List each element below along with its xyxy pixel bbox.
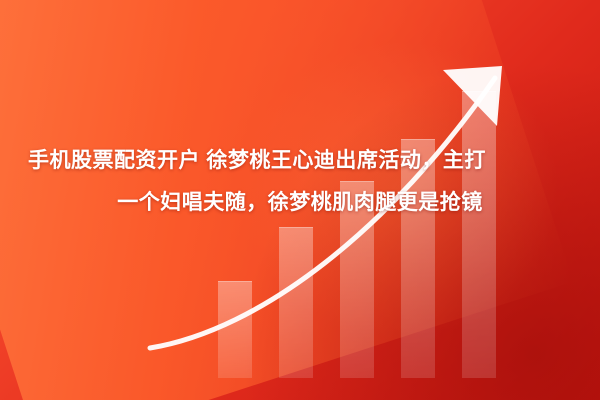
headline-block: 手机股票配资开户 徐梦桃王心迪出席活动，主打 一个妇唱夫随，徐梦桃肌肉腿更是抢镜 [0,140,600,224]
headline-line-1: 手机股票配资开户 徐梦桃王心迪出席活动，主打 [14,140,586,182]
promo-banner: 手机股票配资开户 徐梦桃王心迪出席活动，主打 一个妇唱夫随，徐梦桃肌肉腿更是抢镜 [0,0,600,400]
headline-line-2: 一个妇唱夫随，徐梦桃肌肉腿更是抢镜 [14,182,586,224]
headline-text: 手机股票配资开户 徐梦桃王心迪出席活动，主打 一个妇唱夫随，徐梦桃肌肉腿更是抢镜 [0,140,600,224]
